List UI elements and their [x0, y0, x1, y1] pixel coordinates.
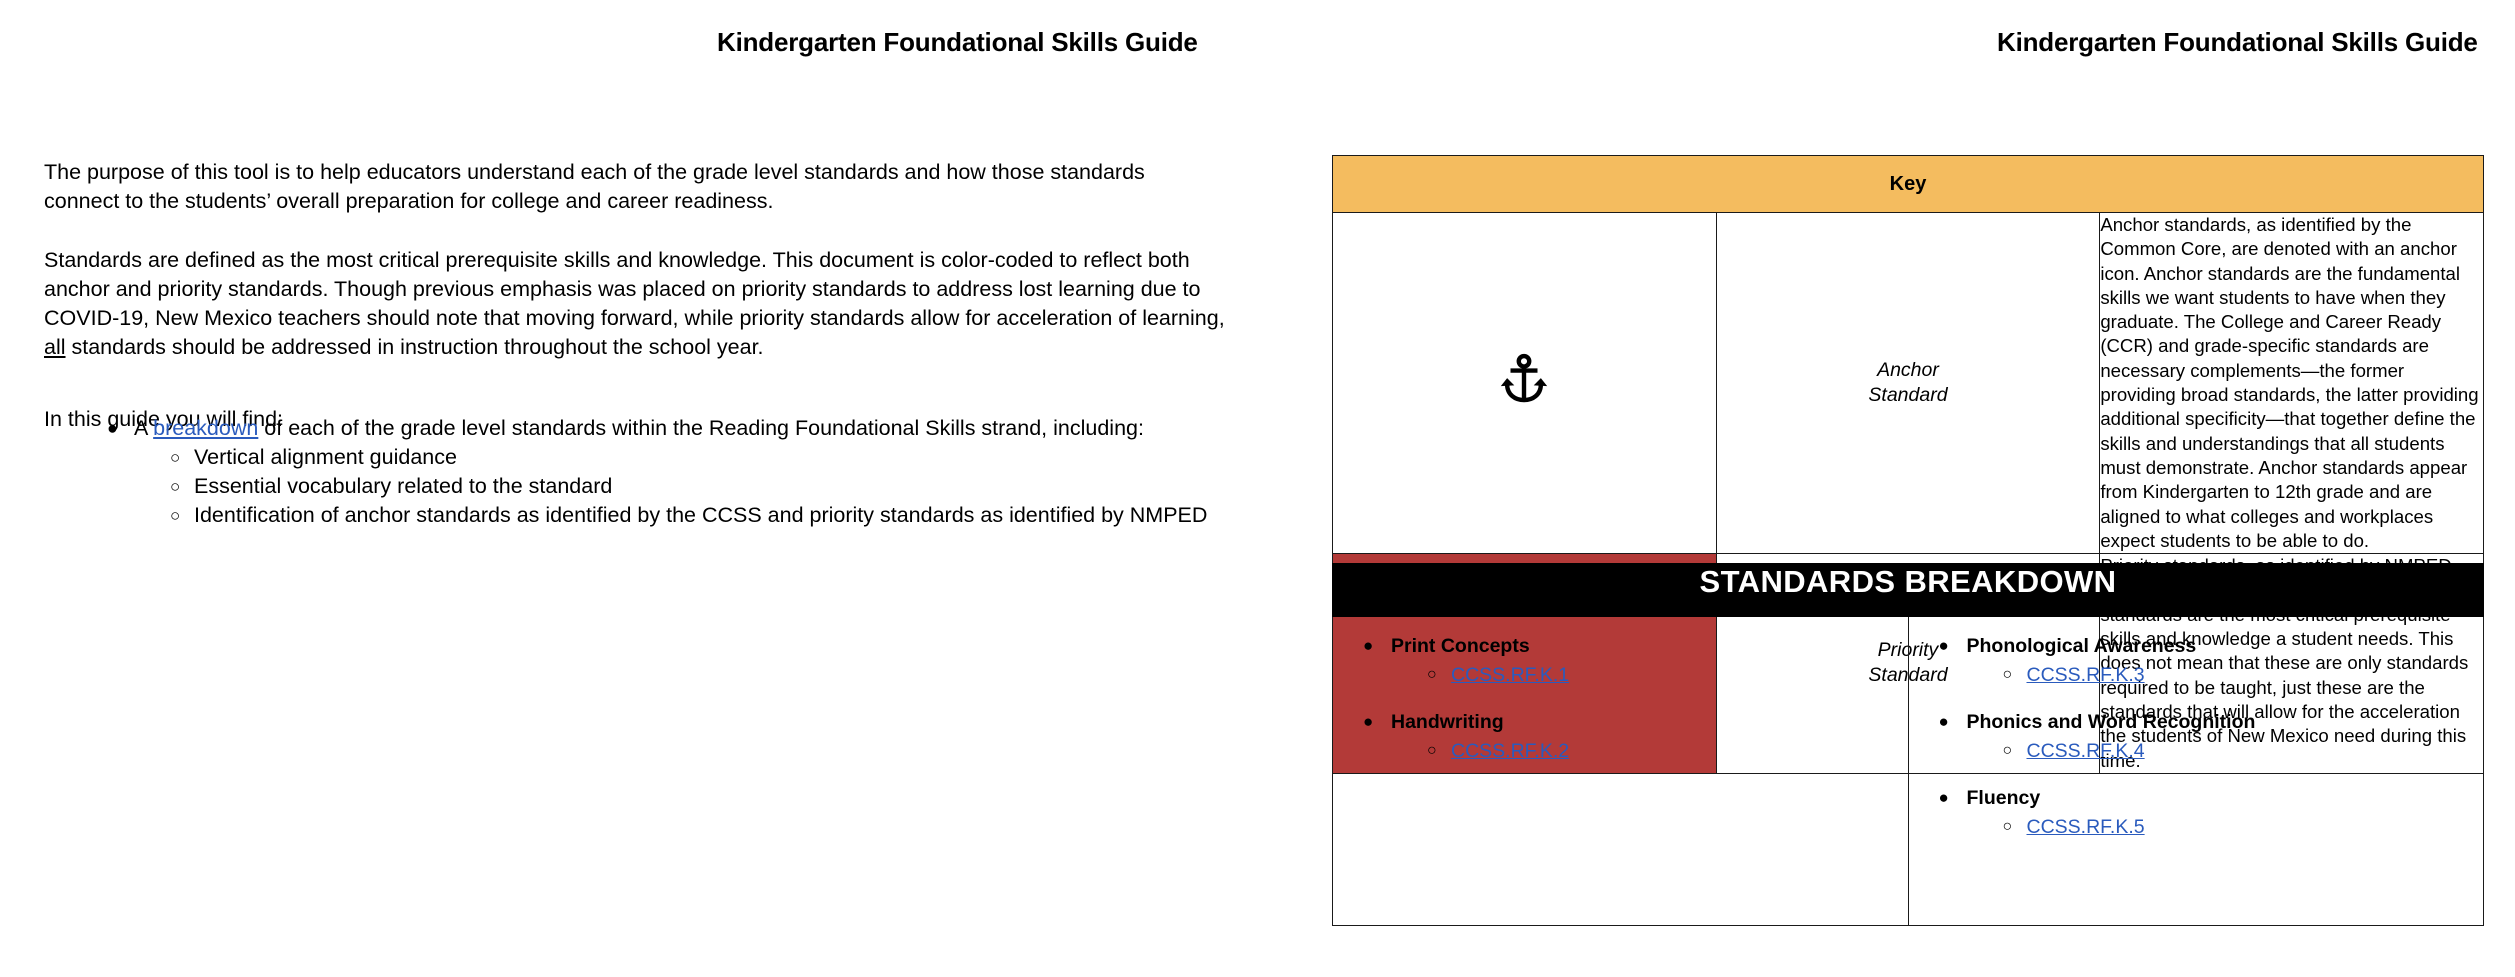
standard-code-link[interactable]: CCSS.RF.K.2: [1451, 740, 1569, 762]
bullet-circle-icon: ○: [2003, 738, 2013, 764]
bullet-disc-icon: ●: [1939, 633, 1949, 659]
list-item: ○ Vertical alignment guidance: [134, 443, 1207, 472]
sub-bullet-label: Vertical alignment guidance: [194, 445, 457, 469]
standard-group-title: Print Concepts: [1391, 635, 1530, 657]
bullet-circle-icon: ○: [170, 472, 180, 501]
standard-group-title: Handwriting: [1391, 711, 1504, 733]
standards-breakdown-right-column: ● Phonological Awareness ○ CCSS.RF.K.3 ●…: [1908, 617, 2484, 926]
document-spread: Kindergarten Foundational Skills Guide T…: [0, 0, 2515, 977]
standard-code-row: ○ CCSS.RF.K.2: [1391, 738, 1908, 765]
table-row: ● Print Concepts ○ CCSS.RF.K.1 ● Handwri…: [1333, 617, 2484, 926]
bullet-circle-icon: ○: [1427, 738, 1437, 764]
standards-list-right: ● Phonological Awareness ○ CCSS.RF.K.3 ●…: [1909, 633, 2484, 841]
standard-code-link[interactable]: CCSS.RF.K.5: [2027, 816, 2145, 838]
standards-breakdown-header: STANDARDS BREAKDOWN: [1333, 564, 2484, 617]
breakdown-pre-text: A: [134, 416, 153, 440]
page-title-right: Kindergarten Foundational Skills Guide: [1997, 27, 2478, 58]
standards-paragraph-part1: Standards are defined as the most critic…: [44, 248, 1225, 330]
standard-code-link[interactable]: CCSS.RF.K.4: [2027, 740, 2145, 762]
bullet-circle-icon: ○: [2003, 662, 2013, 688]
list-item: ○ Identification of anchor standards as …: [134, 501, 1207, 530]
guide-sub-list: ○ Vertical alignment guidance ○ Essentia…: [134, 443, 1207, 530]
breakdown-line: A breakdown of each of the grade level s…: [134, 416, 1144, 440]
guide-contents-list: ● A breakdown of each of the grade level…: [44, 414, 1207, 530]
bullet-disc-icon: ●: [1939, 785, 1949, 811]
standards-breakdown-left-column: ● Print Concepts ○ CCSS.RF.K.1 ● Handwri…: [1333, 617, 1909, 926]
table-row: Anchor Standard Anchor standards, as ide…: [1333, 213, 2484, 554]
standards-breakdown-header-row: STANDARDS BREAKDOWN: [1333, 564, 2484, 617]
standards-paragraph-part2: standards should be addressed in instruc…: [66, 335, 764, 359]
list-item: ● Print Concepts ○ CCSS.RF.K.1: [1333, 633, 1908, 689]
bullet-disc-icon: ●: [1363, 709, 1373, 735]
standard-group-title: Fluency: [1967, 787, 2041, 809]
list-item-breakdown: ● A breakdown of each of the grade level…: [44, 414, 1207, 530]
list-item: ● Handwriting ○ CCSS.RF.K.2: [1333, 709, 1908, 765]
breakdown-post-text: of each of the grade level standards wit…: [258, 416, 1144, 440]
standards-breakdown-table: STANDARDS BREAKDOWN ● Print Concepts ○ C…: [1332, 563, 2484, 926]
standard-code-row: ○ CCSS.RF.K.4: [1967, 738, 2484, 765]
bullet-disc-icon: ●: [1939, 709, 1949, 735]
standards-list-left: ● Print Concepts ○ CCSS.RF.K.1 ● Handwri…: [1333, 633, 1908, 765]
anchor-swatch-cell: [1333, 213, 1717, 554]
anchor-icon: [1333, 351, 1716, 416]
bullet-disc-icon: ●: [1363, 633, 1373, 659]
standard-code-link[interactable]: CCSS.RF.K.3: [2027, 664, 2145, 686]
anchor-label-line2: Standard: [1717, 383, 2100, 408]
bullet-circle-icon: ○: [170, 501, 180, 530]
anchor-standard-description: Anchor standards, as identified by the C…: [2100, 213, 2484, 554]
list-item: ● Fluency ○ CCSS.RF.K.5: [1909, 785, 2484, 841]
list-item: ● Phonics and Word Recognition ○ CCSS.RF…: [1909, 709, 2484, 765]
standard-code-row: ○ CCSS.RF.K.1: [1391, 662, 1908, 689]
key-table-header: Key: [1333, 156, 2484, 213]
list-item: ● Phonological Awareness ○ CCSS.RF.K.3: [1909, 633, 2484, 689]
breakdown-link[interactable]: breakdown: [153, 416, 258, 440]
bullet-circle-icon: ○: [170, 443, 180, 472]
standard-group-title: Phonological Awareness: [1967, 635, 2197, 657]
list-item: ○ Essential vocabulary related to the st…: [134, 472, 1207, 501]
anchor-label-line1: Anchor: [1717, 358, 2100, 383]
standards-paragraph: Standards are defined as the most critic…: [44, 246, 1229, 362]
sub-bullet-label: Identification of anchor standards as id…: [194, 503, 1207, 527]
standard-code-link[interactable]: CCSS.RF.K.1: [1451, 664, 1569, 686]
bullet-circle-icon: ○: [2003, 814, 2013, 840]
page-title-left: Kindergarten Foundational Skills Guide: [717, 27, 1198, 58]
key-table-header-row: Key: [1333, 156, 2484, 213]
anchor-standard-label: Anchor Standard: [1716, 213, 2100, 554]
bullet-disc-icon: ●: [107, 414, 118, 443]
right-page: Kindergarten Foundational Skills Guide K…: [1257, 0, 2515, 977]
standard-code-row: ○ CCSS.RF.K.3: [1967, 662, 2484, 689]
intro-paragraph: The purpose of this tool is to help educ…: [44, 158, 1194, 216]
standard-group-title: Phonics and Word Recognition: [1967, 711, 2256, 733]
sub-bullet-label: Essential vocabulary related to the stan…: [194, 474, 612, 498]
left-page: Kindergarten Foundational Skills Guide T…: [0, 0, 1257, 977]
bullet-circle-icon: ○: [1427, 662, 1437, 688]
standard-code-row: ○ CCSS.RF.K.5: [1967, 814, 2484, 841]
standards-paragraph-emphasis: all: [44, 335, 66, 359]
